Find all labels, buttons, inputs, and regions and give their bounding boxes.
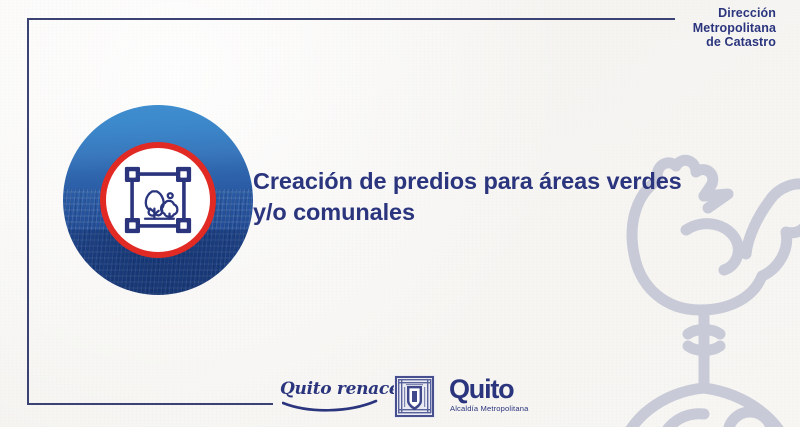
page-title: Creación de predios para áreas verdes y/… [253,166,703,228]
frame-border-top [27,18,675,20]
quito-brand-logo: Quito Alcaldía Metropolitana [449,374,545,418]
quito-brand-name: Quito [449,376,513,403]
footer-logos: Quito renace. [280,374,545,418]
frame-border-left [27,18,29,405]
quito-renace-logo: Quito renace. [280,375,380,417]
quito-renace-slogan: Quito renace. [280,379,405,399]
header-line-3: de Catastro [693,35,776,50]
quito-coat-of-arms-emblem [394,375,435,418]
header-title-block: Dirección Metropolitana de Catastro [693,6,776,50]
header-line-2: Metropolitana [693,21,776,36]
quito-brand-subtitle: Alcaldía Metropolitana [450,404,528,413]
frame-border-bottom [27,403,273,405]
slide-canvas: Dirección Metropolitana de Catastro [0,0,800,427]
renace-swoosh-icon [282,399,378,413]
green-area-parcel-icon [100,142,216,258]
header-line-1: Dirección [693,6,776,21]
